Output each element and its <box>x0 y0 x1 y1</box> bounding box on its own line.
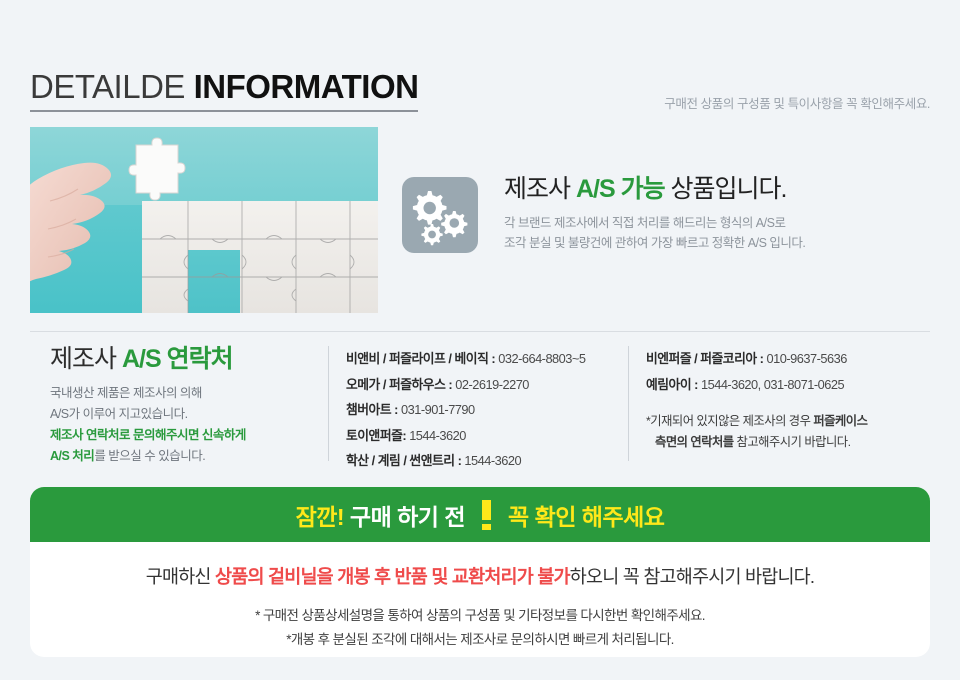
contact-desc-line-2: A/S가 이루어 지고있습니다. <box>50 404 330 425</box>
hero-divider <box>30 331 930 332</box>
contact-phone: 1544-3620 <box>409 428 466 443</box>
banner-left-text: 잠깐! 구매 하기 전 <box>296 498 465 532</box>
contact-footnote-bold-2: 측면의 연락처를 <box>655 435 734 449</box>
page-title: DETAILDE INFORMATION <box>30 68 418 112</box>
contact-footnote-line-1: *기재되어 있지않은 제조사의 경우 퍼즐케이스 <box>646 411 936 432</box>
contact-brand: 토이앤퍼즐: <box>346 428 409 443</box>
contact-section: 제조사 A/S 연락처 국내생산 제품은 제조사의 의해 A/S가 이루어 지고… <box>30 344 930 469</box>
notice-banner: 잠깐! 구매 하기 전 꼭 확인 해주세요 <box>30 487 930 542</box>
notice-sub-lines: * 구매전 상품상세설명을 통하여 상품의 구성품 및 기타정보를 다시한번 확… <box>30 604 930 652</box>
notice-main-pre: 구매하신 <box>146 566 215 587</box>
contact-brand: 학산 / 계림 / 썬앤트리 : <box>346 453 464 468</box>
as-heading-highlight: A/S 가능 <box>576 175 665 203</box>
contact-row: 비앤비 / 퍼즐라이프 / 베이직 : 032-664-8803~5 <box>346 346 621 372</box>
notice-sub-line-1: * 구매전 상품상세설명을 통하여 상품의 구성품 및 기타정보를 다시한번 확… <box>30 604 930 628</box>
hero-section: 제조사 A/S 가능 상품입니다. 각 브랜드 제조사에서 직접 처리를 해드리… <box>30 127 930 313</box>
gears-icon <box>402 177 478 253</box>
as-text-group: 제조사 A/S 가능 상품입니다. 각 브랜드 제조사에서 직접 처리를 해드리… <box>504 173 805 254</box>
contact-row: 챔버아트 : 031-901-7790 <box>346 397 621 423</box>
page-title-light: DETAILDE <box>30 68 185 105</box>
notice-panel: 구매하신 상품의 겉비닐을 개봉 후 반품 및 교환처리가 불가하오니 꼭 참고… <box>30 542 930 657</box>
contact-row: 오메가 / 퍼즐하우스 : 02-2619-2270 <box>346 372 621 398</box>
exclamation-icon <box>482 500 491 530</box>
contact-row: 학산 / 계림 / 썬앤트리 : 1544-3620 <box>346 448 621 474</box>
contact-footnote-line-2: 측면의 연락처를 참고해주시기 바랍니다. <box>646 432 936 453</box>
page-header: DETAILDE INFORMATION 구매전 상품의 구성품 및 특이사항을… <box>30 68 930 112</box>
contact-title-highlight: A/S 연락처 <box>122 345 233 373</box>
notice-main-line: 구매하신 상품의 겉비닐을 개봉 후 반품 및 교환처리가 불가하오니 꼭 참고… <box>30 564 930 590</box>
product-detail-page: DETAILDE INFORMATION 구매전 상품의 구성품 및 특이사항을… <box>0 0 960 680</box>
contact-list-middle: 비앤비 / 퍼즐라이프 / 베이직 : 032-664-8803~5 오메가 /… <box>346 346 621 474</box>
notice-main-red: 상품의 겉비닐을 개봉 후 반품 및 교환처리가 불가 <box>215 566 570 587</box>
contact-brand: 비앤비 / 퍼즐라이프 / 베이직 : <box>346 351 498 366</box>
contact-footnote-bold-1: 퍼즐케이스 <box>813 414 867 428</box>
contact-divider-right <box>628 346 629 461</box>
contact-phone: 010-9637-5636 <box>767 351 847 366</box>
contact-title: 제조사 A/S 연락처 <box>50 344 330 374</box>
contact-footnote-post: 참고해주시기 바랍니다. <box>734 435 851 449</box>
contact-phone: 031-901-7790 <box>401 402 475 417</box>
as-subtext: 각 브랜드 제조사에서 직접 처리를 해드리는 형식의 A/S로 조각 분실 및… <box>504 213 805 254</box>
contact-title-before: 제조사 <box>50 345 122 373</box>
exclamation-dot <box>482 524 491 530</box>
contact-desc-line-4-rest: 를 받으실 수 있습니다. <box>94 449 205 463</box>
as-heading-after: 상품입니다. <box>665 175 787 203</box>
as-subtext-line-2: 조각 분실 및 불량건에 관하여 가장 빠르고 정확한 A/S 입니다. <box>504 233 805 254</box>
contact-desc-line-1: 국내생산 제품은 제조사의 의해 <box>50 383 330 404</box>
banner-text-white: 구매 하기 전 <box>344 504 465 530</box>
contact-phone: 032-664-8803~5 <box>498 351 585 366</box>
contact-description: 국내생산 제품은 제조사의 의해 A/S가 이루어 지고있습니다. 제조사 연락… <box>50 383 330 467</box>
puzzle-photo <box>30 127 378 313</box>
contact-footnote-pre: *기재되어 있지않은 제조사의 경우 <box>646 414 813 428</box>
contact-brand: 오메가 / 퍼즐하우스 : <box>346 377 455 392</box>
as-subtext-line-1: 각 브랜드 제조사에서 직접 처리를 해드리는 형식의 A/S로 <box>504 213 805 234</box>
contact-intro: 제조사 A/S 연락처 국내생산 제품은 제조사의 의해 A/S가 이루어 지고… <box>50 344 330 467</box>
notice-sub-line-2: *개봉 후 분실된 조각에 대해서는 제조사로 문의하시면 빠르게 처리됩니다. <box>30 628 930 652</box>
contact-desc-line-4: A/S 처리를 받으실 수 있습니다. <box>50 446 330 467</box>
contact-row: 비엔퍼즐 / 퍼즐코리아 : 010-9637-5636 <box>646 346 936 372</box>
header-note: 구매전 상품의 구성품 및 특이사항을 꼭 확인해주세요. <box>664 93 930 112</box>
gears-icon-glyph <box>402 177 478 253</box>
contact-desc-line-4-green: A/S 처리 <box>50 449 94 463</box>
as-heading-before: 제조사 <box>504 175 576 203</box>
contact-row: 예림아이 : 1544-3620, 031-8071-0625 <box>646 372 936 398</box>
banner-right-text: 꼭 확인 해주세요 <box>508 498 664 532</box>
contact-list-right: 비엔퍼즐 / 퍼즐코리아 : 010-9637-5636 예림아이 : 1544… <box>646 346 936 453</box>
contact-row: 토이앤퍼즐: 1544-3620 <box>346 423 621 449</box>
purchase-notice-callout: 잠깐! 구매 하기 전 꼭 확인 해주세요 구매하신 상품의 겉비닐을 개봉 후… <box>30 487 930 657</box>
contact-brand: 비엔퍼즐 / 퍼즐코리아 : <box>646 351 767 366</box>
as-heading: 제조사 A/S 가능 상품입니다. <box>504 173 805 206</box>
contact-phone: 1544-3620 <box>464 453 521 468</box>
contact-phone: 1544-3620, 031-8071-0625 <box>701 377 844 392</box>
contact-footnote: *기재되어 있지않은 제조사의 경우 퍼즐케이스 측면의 연락처를 참고해주시기… <box>646 411 936 453</box>
contact-phone: 02-2619-2270 <box>455 377 529 392</box>
hand-illustration <box>30 127 164 313</box>
contact-brand: 챔버아트 : <box>346 402 401 417</box>
contact-brand: 예림아이 : <box>646 377 701 392</box>
contact-desc-line-3: 제조사 연락처로 문의해주시면 신속하게 <box>50 425 330 446</box>
page-title-bold: INFORMATION <box>194 68 419 105</box>
banner-text-yellow: 잠깐! <box>296 504 344 530</box>
exclamation-bar <box>482 500 491 520</box>
notice-main-post: 하오니 꼭 참고해주시기 바랍니다. <box>570 566 814 587</box>
contact-divider-left <box>328 346 329 461</box>
